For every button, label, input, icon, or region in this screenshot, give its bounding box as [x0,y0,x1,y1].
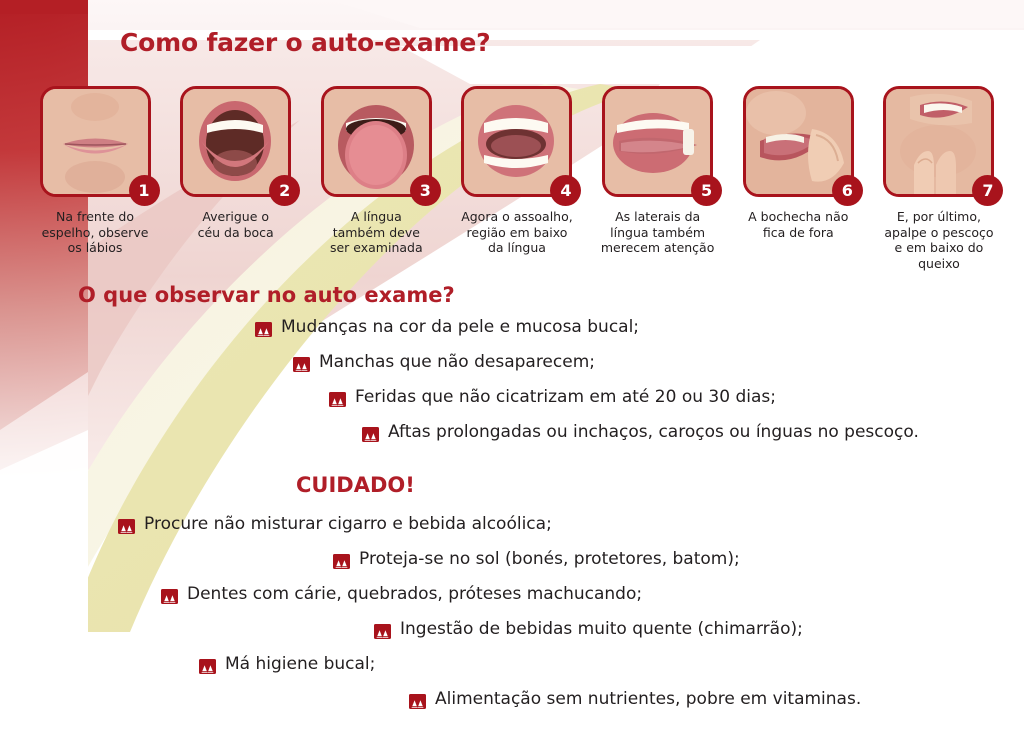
notched-square-bullet-icon [362,427,379,442]
notched-square-bullet-icon [333,554,350,569]
page-title: Como fazer o auto-exame? [120,28,490,57]
list-item: Ingestão de bebidas muito quente (chimar… [0,620,1024,655]
step-caption: Averigue o céu da boca [198,209,274,240]
step-card: 5 As laterais da língua também merecem a… [599,86,717,272]
notched-square-bullet-icon [374,624,391,639]
list-item-text: Ingestão de bebidas muito quente (chimar… [400,620,803,640]
step-photo-wrap: 7 [883,86,994,197]
cuidado-section-heading: CUIDADO! [296,473,415,497]
list-item-text: Má higiene bucal; [225,655,375,675]
observe-bullet-list: Mudanças na cor da pele e mucosa bucal; … [0,318,1024,458]
poster-header: Como fazer o auto-exame? [0,0,1024,82]
step-number-badge: 7 [972,175,1003,206]
list-item: Mudanças na cor da pele e mucosa bucal; [0,318,1024,353]
step-photo-wrap: 3 [321,86,432,197]
list-item-text: Dentes com cárie, quebrados, próteses ma… [187,585,642,605]
list-item: Má higiene bucal; [0,655,1024,690]
notched-square-bullet-icon [409,694,426,709]
step-photo-wrap: 4 [461,86,572,197]
step-number-badge: 2 [269,175,300,206]
step-caption: A bochecha não fica de fora [748,209,848,240]
step-photo-wrap: 1 [40,86,151,197]
list-item-text: Alimentação sem nutrientes, pobre em vit… [435,690,861,710]
list-item: Aftas prolongadas ou inchaços, caroços o… [0,423,1024,458]
step-caption: E, por último, apalpe o pescoço e em bai… [880,209,998,272]
step-photo-wrap: 5 [602,86,713,197]
notched-square-bullet-icon [161,589,178,604]
step-photo-wrap: 2 [180,86,291,197]
notched-square-bullet-icon [329,392,346,407]
notched-square-bullet-icon [255,322,272,337]
step-card: 4 Agora o assoalho, região em baixo da l… [458,86,576,272]
step-caption: Agora o assoalho, região em baixo da lín… [461,209,573,256]
notched-square-bullet-icon [199,659,216,674]
step-caption: A língua também deve ser examinada [330,209,423,256]
step-number-badge: 3 [410,175,441,206]
step-card: 7 E, por último, apalpe o pescoço e em b… [880,86,998,272]
step-card: 2 Averigue o céu da boca [177,86,295,272]
list-item: Alimentação sem nutrientes, pobre em vit… [0,690,1024,725]
cuidado-bullet-list: Procure não misturar cigarro e bebida al… [0,515,1024,725]
step-caption: Na frente do espelho, observe os lábios [42,209,149,256]
list-item: Proteja-se no sol (bonés, protetores, ba… [0,550,1024,585]
self-exam-steps: 1 Na frente do espelho, observe os lábio… [36,86,998,272]
step-photo-wrap: 6 [743,86,854,197]
list-item-text: Aftas prolongadas ou inchaços, caroços o… [388,423,919,443]
list-item-text: Manchas que não desaparecem; [319,353,595,373]
step-number-badge: 5 [691,175,722,206]
list-item: Feridas que não cicatrizam em até 20 ou … [0,388,1024,423]
step-number-badge: 6 [832,175,863,206]
list-item-text: Procure não misturar cigarro e bebida al… [144,515,552,535]
step-card: 3 A língua também deve ser examinada [317,86,435,272]
step-card: 6 A bochecha não fica de fora [739,86,857,272]
list-item: Manchas que não desaparecem; [0,353,1024,388]
step-card: 1 Na frente do espelho, observe os lábio… [36,86,154,272]
list-item-text: Proteja-se no sol (bonés, protetores, ba… [359,550,740,570]
step-caption: As laterais da língua também merecem ate… [601,209,715,256]
list-item: Procure não misturar cigarro e bebida al… [0,515,1024,550]
list-item: Dentes com cárie, quebrados, próteses ma… [0,585,1024,620]
observe-section-heading: O que observar no auto exame? [78,283,455,307]
infographic-poster: Como fazer o auto-exame? 1 Na fre [0,0,1024,736]
notched-square-bullet-icon [118,519,135,534]
list-item-text: Mudanças na cor da pele e mucosa bucal; [281,318,639,338]
step-number-badge: 1 [129,175,160,206]
step-number-badge: 4 [550,175,581,206]
notched-square-bullet-icon [293,357,310,372]
list-item-text: Feridas que não cicatrizam em até 20 ou … [355,388,776,408]
